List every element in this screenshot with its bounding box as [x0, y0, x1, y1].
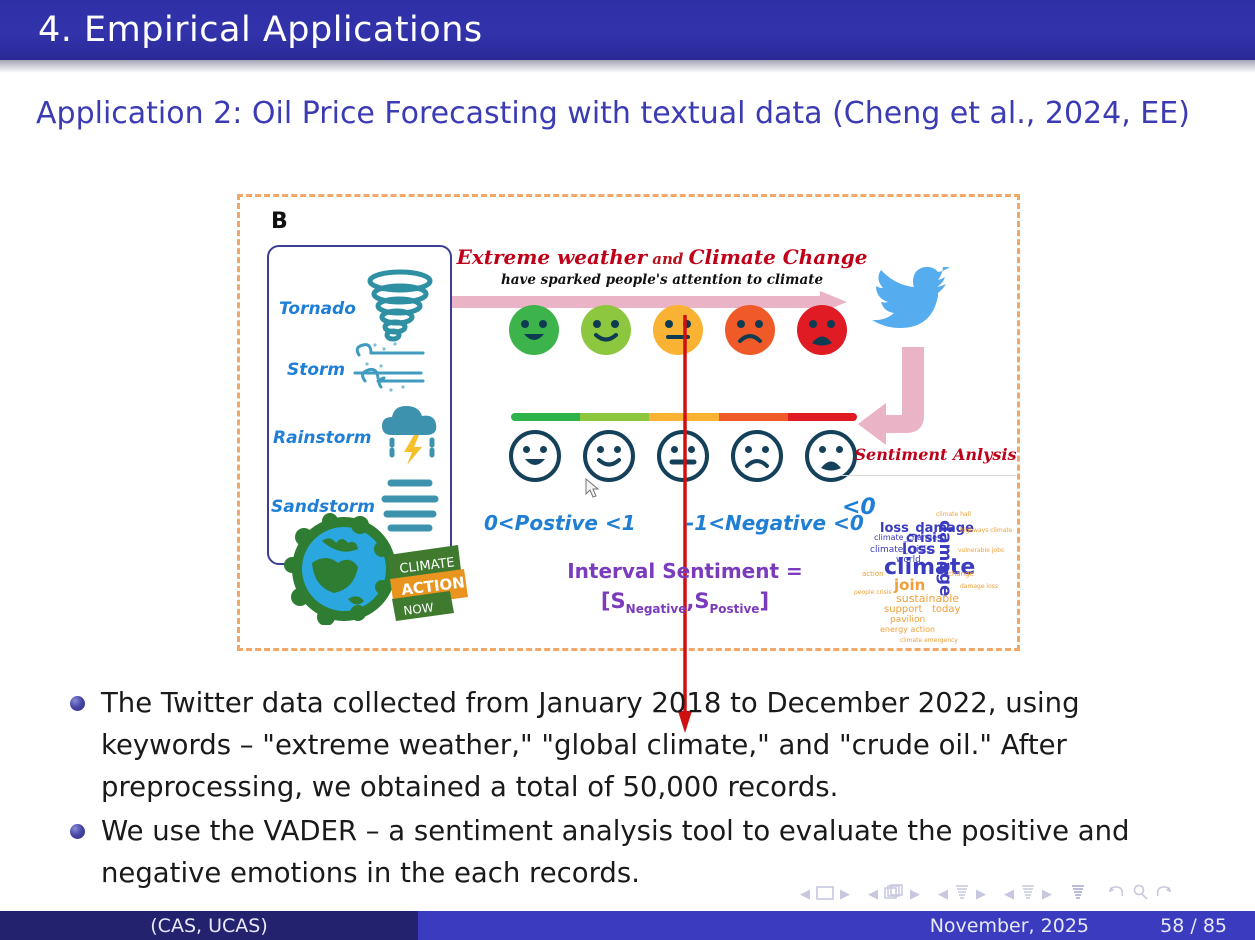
mouse-cursor [585, 478, 599, 498]
next-frame-button[interactable]: ▶ [840, 888, 850, 901]
prev-section-button[interactable]: ◀ [1004, 888, 1014, 901]
search-icon[interactable] [1132, 884, 1148, 904]
slide-title-bar: 4. Empirical Applications [0, 0, 1255, 60]
footer-page-number: 58 / 85 [1160, 915, 1227, 937]
weather-item-label: Rainstorm [273, 428, 372, 448]
wordcloud-marker: <0 [842, 495, 876, 520]
wind-icon [351, 339, 427, 401]
positive-range-label: 0<Postive <1 [484, 511, 636, 535]
slide-footer: (CAS, UCAS) November, 2025 58 / 85 [0, 911, 1255, 940]
page-title: 4. Empirical Applications [38, 10, 483, 50]
svg-text:support: support [884, 604, 922, 615]
outline-emoji-very-positive [509, 430, 561, 482]
nav-group-frame[interactable]: ◀ ▶ [800, 885, 850, 904]
emoji-very-negative [797, 305, 847, 355]
gradient-seg-4 [788, 413, 857, 421]
bullet-dot-icon [70, 696, 85, 711]
svg-text:climate_crisis: climate_crisis [870, 545, 931, 555]
gradient-seg-3 [719, 413, 788, 421]
svg-text:world: world [896, 555, 921, 565]
outline-emoji-negative [731, 430, 783, 482]
weather-item-storm: Storm [287, 339, 427, 401]
weather-item-label: Storm [287, 360, 345, 380]
emoji-very-positive [509, 305, 559, 355]
svg-text:climate emergency: climate emergency [900, 637, 958, 644]
slide-frame-icon[interactable] [816, 885, 834, 904]
twitter-bird-icon [862, 255, 954, 337]
nav-group-section[interactable]: ◀ ▶ [1004, 884, 1052, 904]
svg-text:change: change [948, 570, 974, 578]
negative-range-label: -1<Negative <0 [686, 511, 864, 535]
forward-arrow-icon[interactable] [1154, 884, 1172, 904]
svg-text:damage loss: damage loss [960, 583, 998, 590]
svg-text:energy action: energy action [880, 625, 935, 634]
footer-institution: (CAS, UCAS) [150, 915, 267, 937]
weather-item-label: Tornado [279, 299, 356, 319]
svg-text:damage: damage [935, 520, 955, 597]
next-subsection-button[interactable]: ▶ [976, 888, 986, 901]
footer-institution-area: (CAS, UCAS) [0, 911, 418, 940]
prev-subsection-button[interactable]: ◀ [938, 888, 948, 901]
svg-text:people crisis: people crisis [854, 589, 892, 596]
document-icon[interactable] [1070, 884, 1086, 904]
beamer-navigation-bar[interactable]: ◀ ▶ ◀ ▶ ◀ ▶ ◀ ▶ [800, 880, 1255, 908]
footer-info-area: November, 2025 58 / 85 [418, 911, 1255, 940]
section-icon[interactable] [1020, 884, 1036, 904]
svg-text:action: action [862, 570, 884, 578]
outline-emoji-positive [583, 430, 635, 482]
next-section-button[interactable]: ▶ [1042, 888, 1052, 901]
slide-stack-icon[interactable] [884, 884, 904, 904]
figure-panel-b: B Tornado Storm [237, 194, 1020, 651]
svg-text:highways climate: highways climate [960, 527, 1013, 534]
prev-frame-button[interactable]: ◀ [800, 888, 810, 901]
rain-cloud-icon [376, 405, 450, 471]
emoji-positive [581, 305, 631, 355]
weather-item-tornado: Tornado [279, 269, 438, 348]
back-arrow-icon[interactable] [1108, 884, 1126, 904]
climate-action-globe: CLIMATE ACTION NOW [282, 513, 482, 623]
sentiment-analysis-label: Sentiment Anlysis [848, 445, 1023, 464]
emoji-negative [725, 305, 775, 355]
bullet-list: The Twitter data collected from January … [70, 682, 1200, 896]
figure-label: B [271, 209, 288, 234]
prev-slide-button[interactable]: ◀ [868, 888, 878, 901]
tornado-icon [360, 269, 438, 348]
svg-text:vulnerable jobs: vulnerable jobs [958, 547, 1004, 554]
next-slide-button[interactable]: ▶ [910, 888, 920, 901]
svg-text:today: today [932, 604, 961, 615]
wordcloud-image: <0 climate loss loss_damage crisis clima… [840, 475, 1016, 643]
pink-hook-arrow-icon [856, 347, 936, 457]
interval-sentiment-formula: Interval Sentiment = [SNegative,SPostive… [540, 559, 830, 616]
bullet-text: The Twitter data collected from January … [101, 682, 1200, 808]
bullet-dot-icon [70, 824, 85, 839]
footer-date: November, 2025 [930, 915, 1089, 937]
svg-text:climate_change: climate_change [874, 533, 937, 542]
weather-item-rainstorm: Rainstorm [273, 405, 450, 471]
nav-group-slide[interactable]: ◀ ▶ [868, 884, 920, 904]
svg-text:pavilion: pavilion [890, 615, 925, 625]
figure-headline: Extreme weather and Climate Change [452, 245, 872, 269]
slide-heading: Application 2: Oil Price Forecasting wit… [36, 90, 1226, 137]
title-shadow [0, 60, 1255, 73]
formula-line-1: Interval Sentiment = [540, 559, 830, 583]
formula-line-2: [SNegative,SPostive] [540, 589, 830, 616]
figure-subheadline: have sparked people's attention to clima… [452, 272, 872, 288]
figure-headline-block: Extreme weather and Climate Change have … [452, 245, 872, 288]
gradient-seg-1 [580, 413, 649, 421]
subsection-icon[interactable] [954, 884, 970, 904]
nav-group-subsection[interactable]: ◀ ▶ [938, 884, 986, 904]
list-item: The Twitter data collected from January … [70, 682, 1200, 808]
svg-text:climate hall: climate hall [936, 511, 971, 518]
gradient-seg-0 [511, 413, 580, 421]
